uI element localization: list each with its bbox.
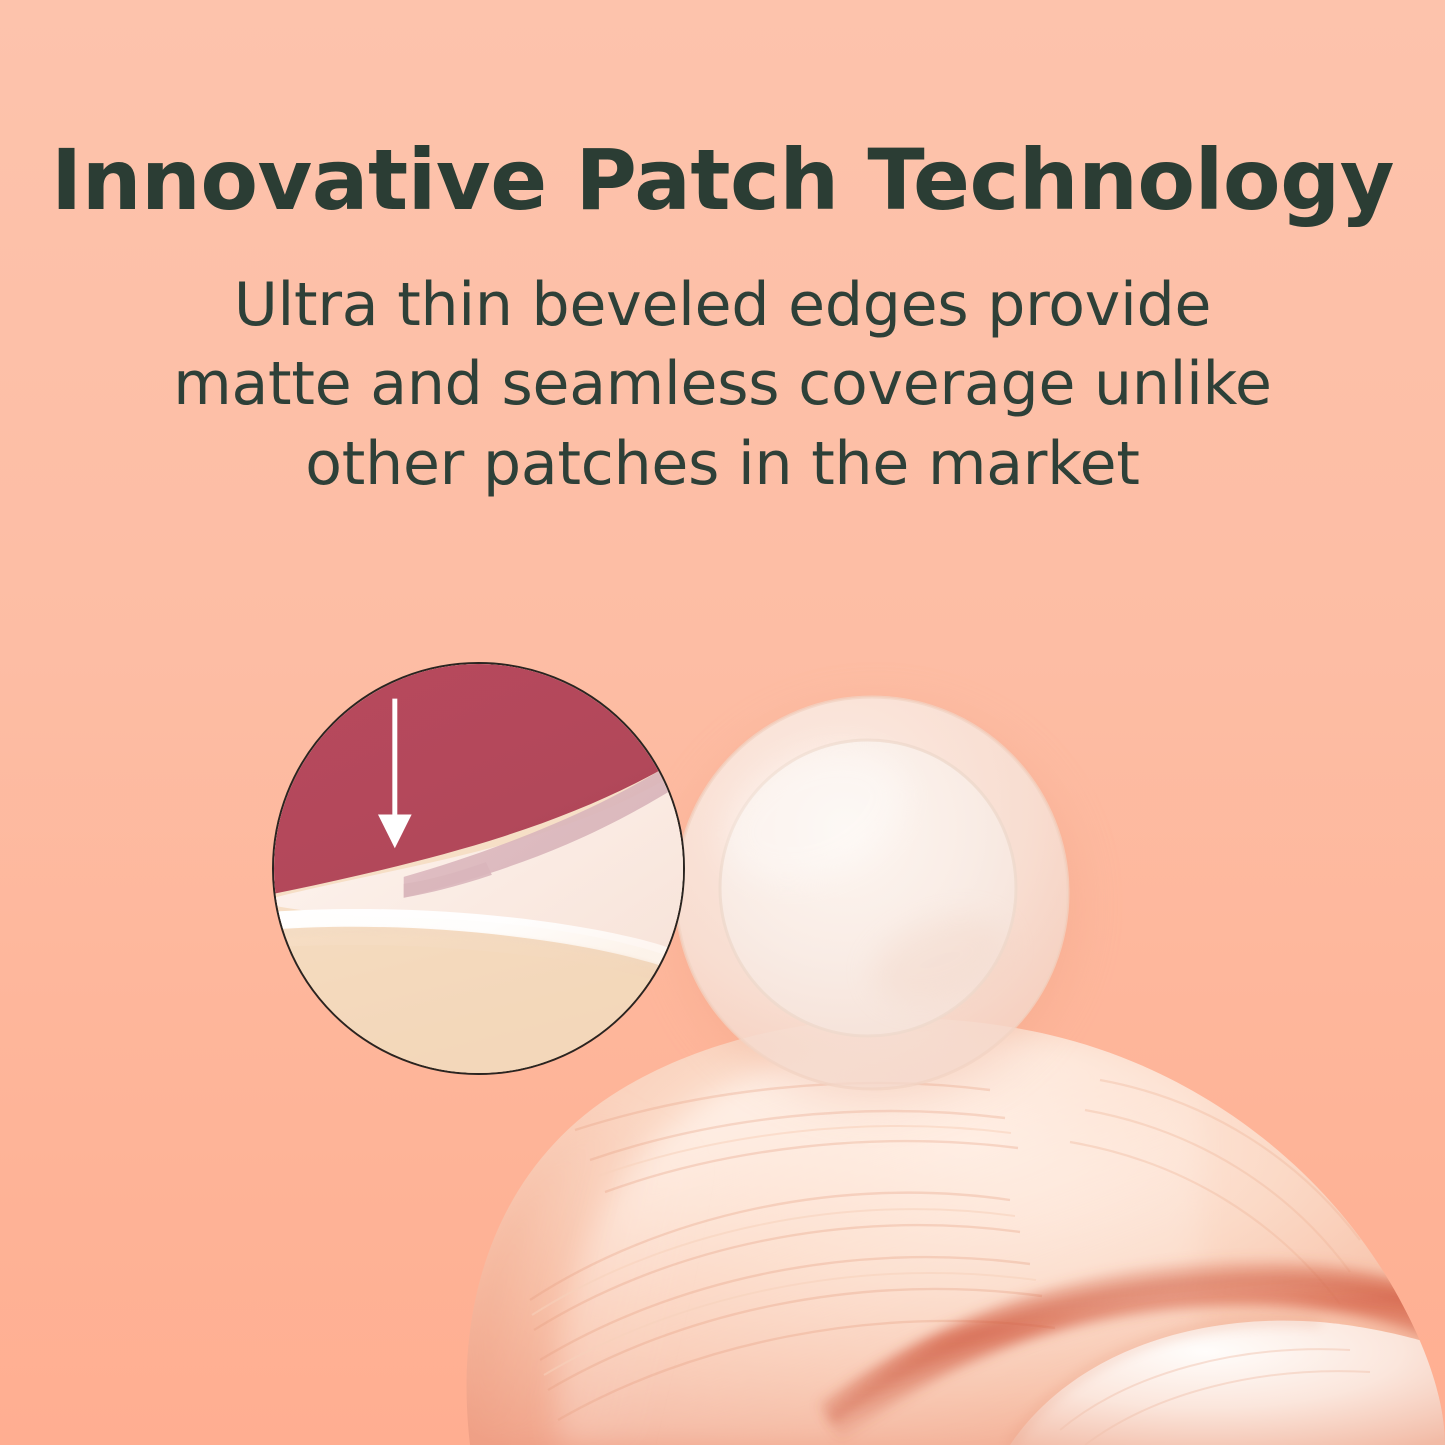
product-feature-card: Innovative Patch Technology Ultra thin b… bbox=[0, 0, 1445, 1445]
text-block: Innovative Patch Technology Ultra thin b… bbox=[0, 0, 1445, 505]
page-title: Innovative Patch Technology bbox=[0, 0, 1445, 224]
hydrocolloid-patch bbox=[676, 697, 1072, 1097]
finger-shape bbox=[467, 1018, 1445, 1445]
subtitle-line-2: matte and seamless coverage unlike bbox=[0, 345, 1445, 425]
patch-cross-section-diagram bbox=[272, 662, 685, 1075]
page-subtitle: Ultra thin beveled edges provide matte a… bbox=[0, 224, 1445, 505]
subtitle-line-3: other patches in the market bbox=[0, 425, 1445, 505]
subtitle-line-1: Ultra thin beveled edges provide bbox=[0, 266, 1445, 346]
